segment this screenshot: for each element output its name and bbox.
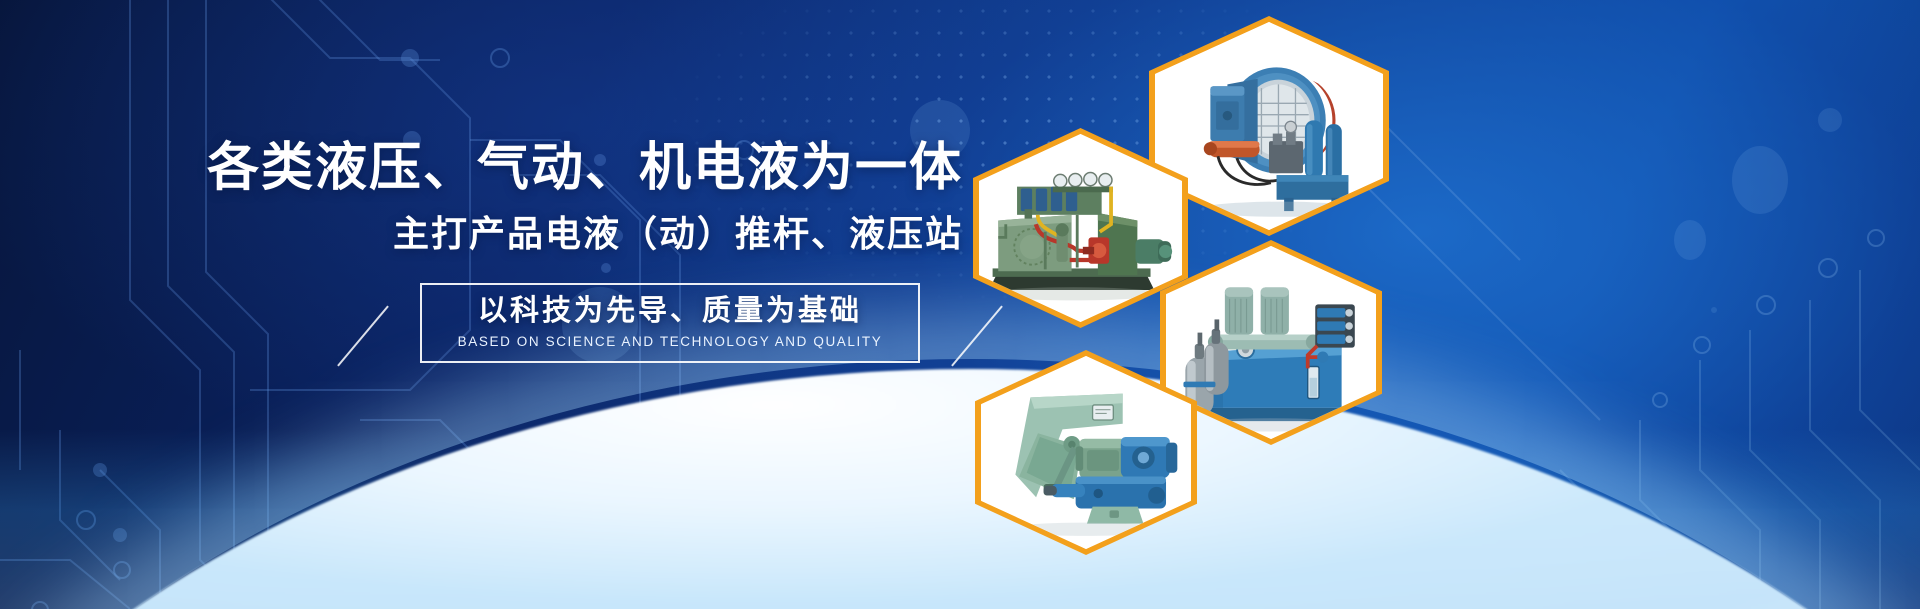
photo-hydraulic-butterfly-valve — [1155, 22, 1383, 230]
banner-headline: 各类液压、气动、机电液为一体 — [0, 138, 990, 198]
slogan-english: BASED ON SCIENCE AND TECHNOLOGY AND QUAL… — [458, 335, 883, 350]
slogan-chinese: 以科技为先导、质量为基础 — [478, 296, 862, 328]
banner-copy: 各类液压、气动、机电液为一体 主打产品电液（动）推杆、液压站 — [0, 138, 990, 256]
slogan-box: 以科技为先导、质量为基础 BASED ON SCIENCE AND TECHNO… — [420, 283, 920, 363]
hex-inner-frame — [1155, 22, 1383, 230]
hex-inner-frame — [981, 356, 1191, 549]
product-hexagon-cluster — [955, 0, 1475, 609]
slash-decoration-left — [337, 305, 389, 366]
photo-blue-hydraulic-station — [1166, 246, 1376, 439]
photo-green-hydraulic-power-unit — [979, 134, 1182, 322]
photo-electro-hydraulic-pusher — [981, 356, 1191, 549]
hex-inner-frame — [979, 134, 1182, 322]
hex-inner-frame — [1166, 246, 1376, 439]
hero-banner: 各类液压、气动、机电液为一体 主打产品电液（动）推杆、液压站 以科技为先导、质量… — [0, 0, 1920, 609]
slogan-block: 以科技为先导、质量为基础 BASED ON SCIENCE AND TECHNO… — [420, 283, 920, 363]
banner-subheadline: 主打产品电液（动）推杆、液压站 — [0, 212, 990, 255]
